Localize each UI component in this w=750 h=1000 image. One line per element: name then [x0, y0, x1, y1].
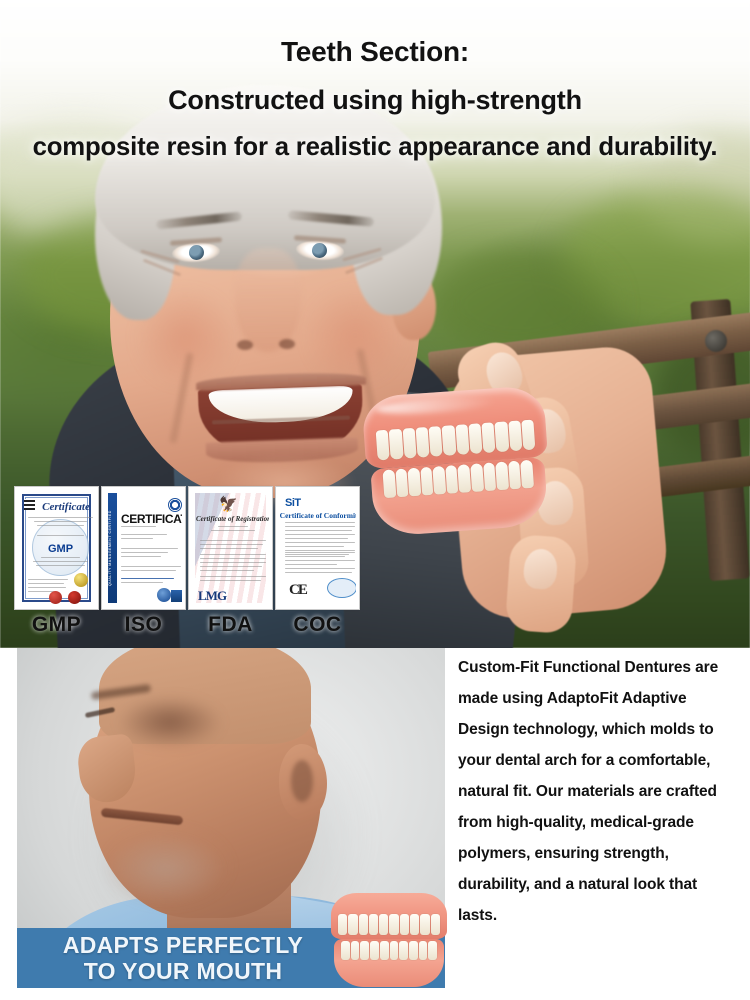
certificate-heading: Certificate of Registration [192, 515, 272, 523]
certificate-image-coc: SiT Certificate of Conformity CE [276, 487, 359, 609]
iso-bottom-seal [157, 588, 171, 602]
ce-mark: CE [289, 582, 306, 599]
upper-teeth-row [338, 914, 440, 935]
certification-coc[interactable]: SiT Certificate of Conformity CE [276, 487, 359, 637]
red-seal [49, 591, 62, 604]
eagle-icon: 🦅 [219, 497, 238, 512]
lower-teeth-row [341, 941, 437, 960]
certificate-image-iso: QUALITY MANAGEMENT CERTIFIED CERTIFICATE [102, 487, 185, 609]
product-description: Custom-Fit Functional Dentures are made … [458, 652, 738, 931]
certification-gmp[interactable]: Certificate GMP [15, 487, 98, 637]
iris [312, 243, 327, 258]
qr-code-icon [24, 499, 35, 510]
eye-socket-shadow [117, 696, 223, 748]
headline-line-2: Constructed using high-strength [0, 83, 750, 118]
certification-label-fda: FDA [189, 613, 272, 637]
stubble [105, 834, 225, 904]
certification-label-coc: COC [276, 613, 359, 637]
iso-bottom-seal [171, 590, 183, 602]
lmg-logo: LMG [198, 588, 226, 604]
sit-logo: SiT [285, 497, 301, 509]
banner-line-2: TO YOUR MOUTH [17, 959, 349, 985]
certificate-heading: Certificate [36, 501, 96, 513]
product-detail-image: Teeth Section: Constructed using high-st… [0, 0, 750, 1000]
certificate-heading: Certificate of Conformity [279, 511, 359, 520]
certificate-heading: CERTIFICATE [121, 512, 185, 526]
headline-block: Teeth Section: Constructed using high-st… [0, 0, 750, 164]
blue-stamp [327, 578, 357, 598]
banner-line-1: ADAPTS PERFECTLY [17, 933, 349, 959]
red-seal [68, 591, 81, 604]
gmp-mark: GMP [19, 543, 98, 555]
iris [189, 245, 204, 260]
headline-line-1: Teeth Section: [0, 34, 750, 70]
certification-badges: Certificate GMP [15, 487, 360, 637]
ear [279, 744, 327, 820]
gold-seal [74, 573, 88, 587]
bench-bolt [705, 330, 727, 352]
nostril [237, 340, 253, 350]
nostril [279, 339, 295, 349]
denture-product [361, 385, 552, 537]
headline-line-3: composite resin for a realistic appearan… [4, 130, 747, 163]
certification-fda[interactable]: 🦅 Certificate of Registration [189, 487, 272, 637]
certification-label-iso: ISO [102, 613, 185, 637]
certification-iso[interactable]: QUALITY MANAGEMENT CERTIFIED CERTIFICATE [102, 487, 185, 637]
denture-overlay [331, 893, 447, 991]
certificate-image-fda: 🦅 Certificate of Registration [189, 487, 272, 609]
iso-sidebar-text: QUALITY MANAGEMENT CERTIFIED [108, 493, 117, 603]
nose [235, 248, 301, 352]
certification-label-gmp: GMP [15, 613, 98, 637]
certificate-image-gmp: Certificate GMP [15, 487, 98, 609]
iso-top-seal [168, 498, 182, 512]
